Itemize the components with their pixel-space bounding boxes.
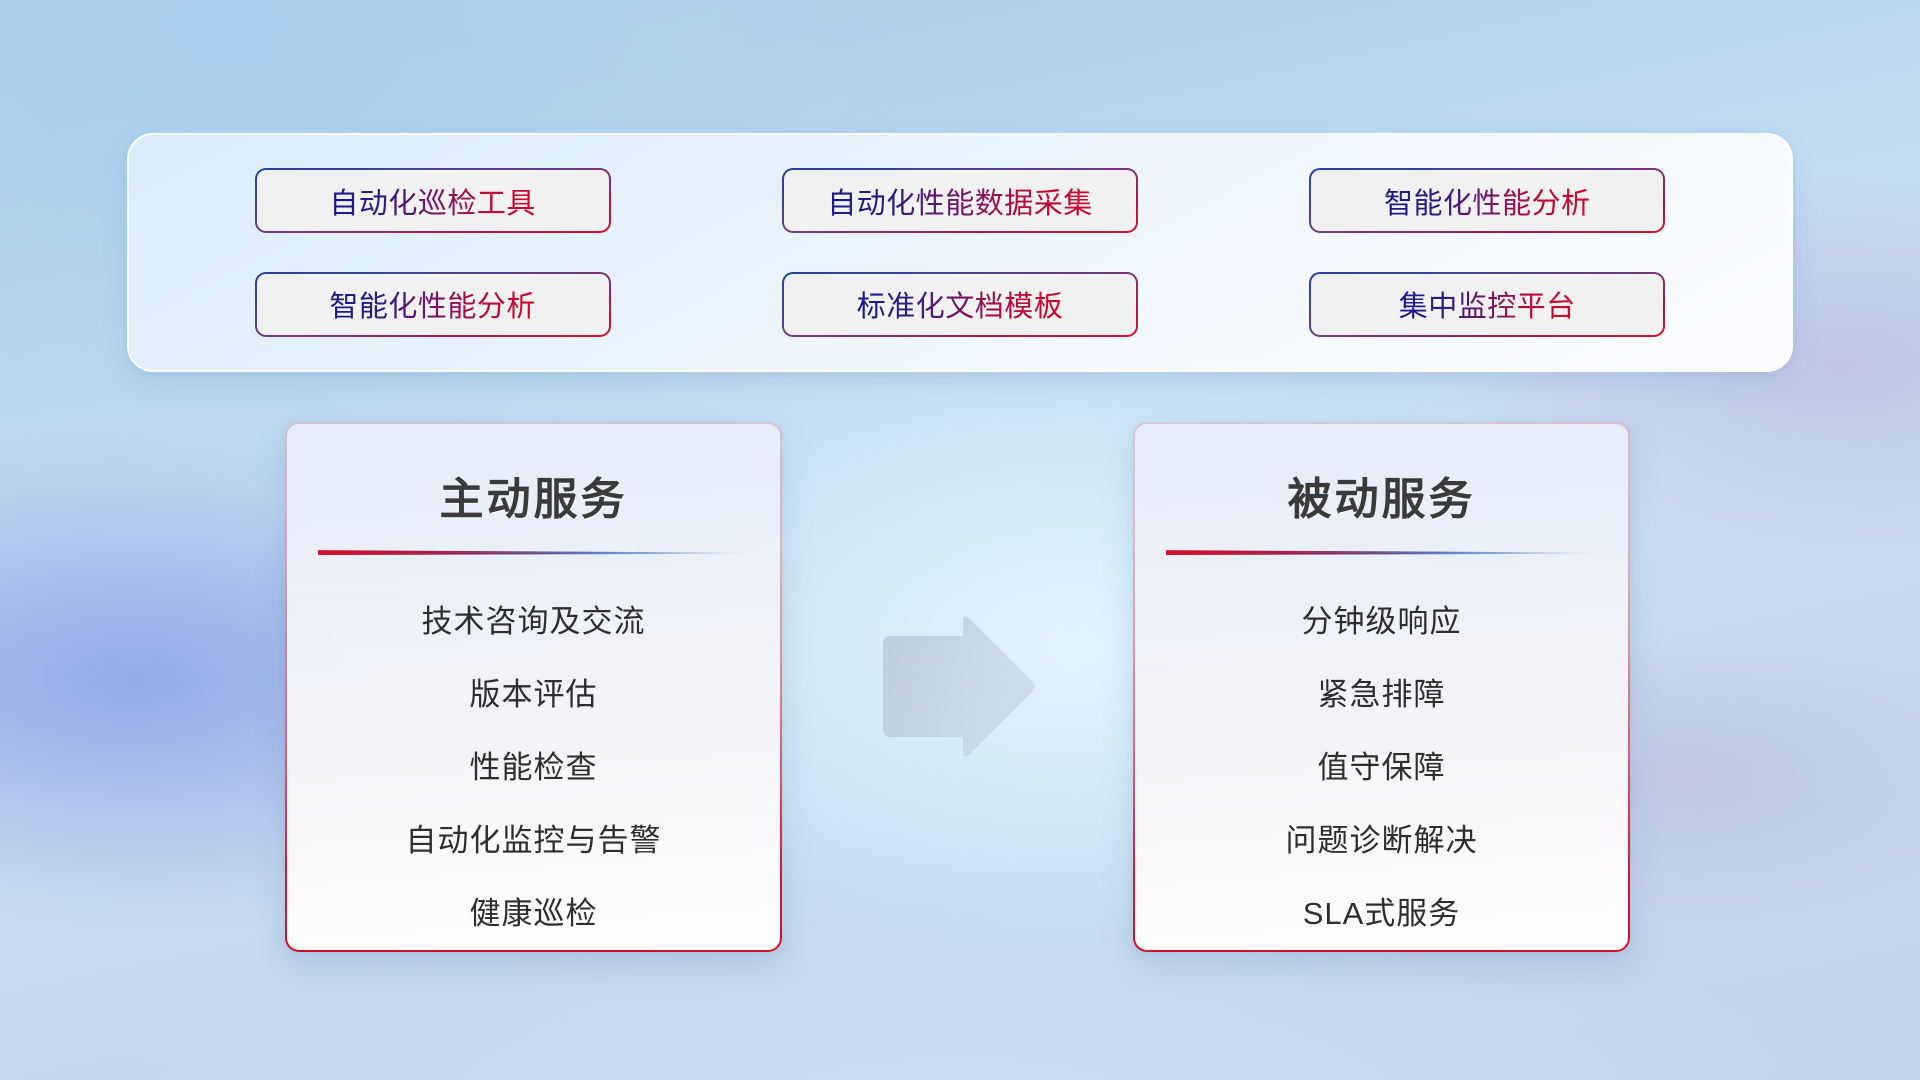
service-card-proactive: 主动服务 技术咨询及交流 版本评估 性能检查 自动化监控与告警 健康巡检: [285, 422, 782, 952]
list-item: 自动化监控与告警: [406, 804, 662, 877]
tool-pill-label: 自动化性能数据采集: [827, 180, 1093, 222]
tool-pill-automated-inspection[interactable]: 自动化巡检工具: [255, 168, 611, 233]
tool-pill-performance-data-collection[interactable]: 自动化性能数据采集: [782, 168, 1138, 233]
tool-pill-label: 自动化巡检工具: [329, 180, 536, 222]
tool-pill-label: 标准化文档模板: [857, 283, 1064, 325]
tool-pill-label: 智能化性能分析: [1384, 180, 1591, 222]
slide-canvas: 自动化巡检工具 自动化性能数据采集 智能化性能分析 智能化性能分析 标准化文档模…: [0, 0, 1920, 1080]
tool-pill-centralized-monitoring[interactable]: 集中监控平台: [1309, 272, 1665, 337]
list-item: 值守保障: [1318, 731, 1446, 804]
tool-pill-intelligent-performance-analysis-1[interactable]: 智能化性能分析: [1309, 168, 1665, 233]
service-card-reactive: 被动服务 分钟级响应 紧急排障 值守保障 问题诊断解决 SLA式服务: [1133, 422, 1630, 952]
list-item: 问题诊断解决: [1286, 804, 1478, 877]
arrow-right-icon: [873, 614, 1038, 759]
card-divider: [318, 549, 750, 555]
card-title: 被动服务: [1288, 463, 1476, 527]
card-divider: [1166, 549, 1598, 555]
tool-pill-label: 智能化性能分析: [329, 283, 536, 325]
list-item: 健康巡检: [470, 877, 598, 950]
list-item: 紧急排障: [1318, 658, 1446, 731]
tools-panel: 自动化巡检工具 自动化性能数据采集 智能化性能分析 智能化性能分析 标准化文档模…: [127, 133, 1793, 372]
tool-pill-intelligent-performance-analysis-2[interactable]: 智能化性能分析: [255, 272, 611, 337]
card-list: 分钟级响应 紧急排障 值守保障 问题诊断解决 SLA式服务: [1135, 585, 1628, 950]
card-list: 技术咨询及交流 版本评估 性能检查 自动化监控与告警 健康巡检: [287, 585, 780, 950]
list-item: 技术咨询及交流: [422, 585, 646, 658]
list-item: 版本评估: [470, 658, 598, 731]
divider-wedge: [318, 549, 750, 555]
card-title: 主动服务: [440, 463, 628, 527]
list-item: SLA式服务: [1303, 877, 1461, 950]
tool-pill-label: 集中监控平台: [1399, 283, 1576, 325]
list-item: 性能检查: [470, 731, 598, 804]
divider-wedge: [1166, 549, 1598, 555]
tool-pill-standard-doc-template[interactable]: 标准化文档模板: [782, 272, 1138, 337]
list-item: 分钟级响应: [1302, 585, 1462, 658]
